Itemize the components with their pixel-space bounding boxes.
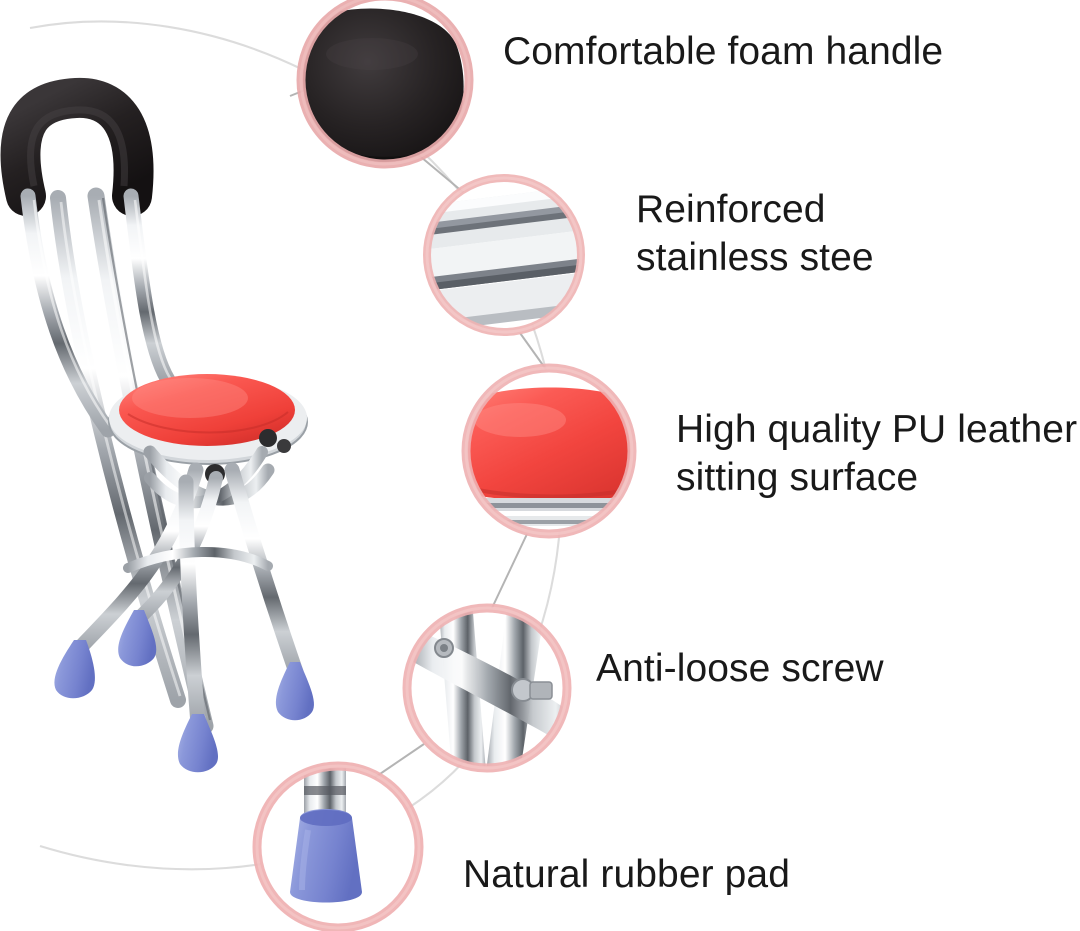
callout-circle-anti-loose-screw: [406, 600, 572, 772]
callout-label-pu-leather: High quality PU leather sitting surface: [676, 406, 1077, 501]
connector-4-5: [374, 744, 424, 778]
callout-label-foam-handle: Comfortable foam handle: [503, 28, 943, 76]
infographic-canvas: Comfortable foam handle Reinforced stain…: [0, 0, 1080, 931]
callout-label-stainless-steel: Reinforced stainless stee: [636, 186, 874, 281]
callout-label-anti-loose-screw: Anti-loose screw: [596, 645, 884, 693]
leg-4: [186, 482, 198, 724]
leg-3: [232, 470, 296, 672]
product-photo: [20, 98, 314, 772]
callout-label-rubber-pad: Natural rubber pad: [463, 851, 790, 899]
callout-circle-foam-handle: [298, 0, 472, 170]
callout-circle-rubber-pad: [257, 758, 420, 929]
callout-circle-pu-leather: [462, 368, 642, 536]
callout-circle-stainless-steel: [411, 175, 601, 335]
connector-3-4: [492, 534, 527, 608]
